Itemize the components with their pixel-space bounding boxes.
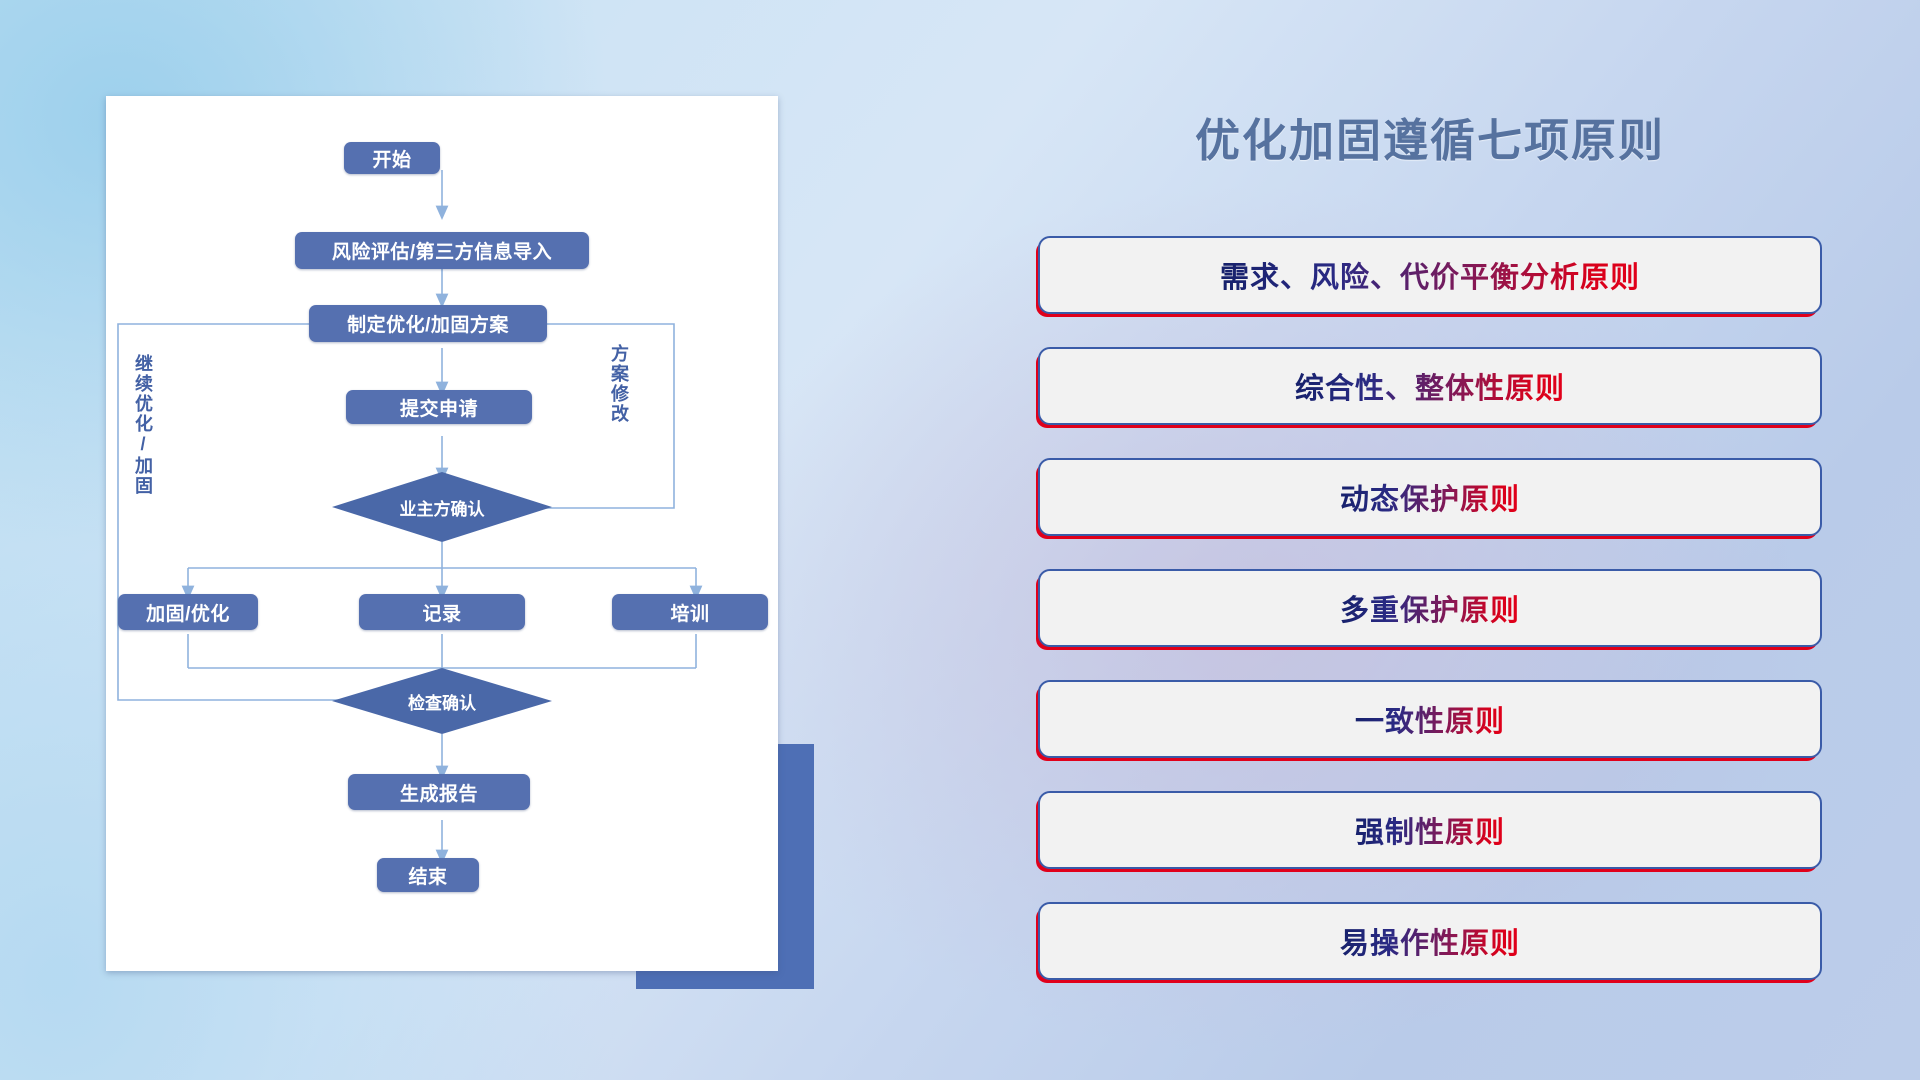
flow-node-start[interactable]: 开始 xyxy=(344,142,440,174)
principle-card-1[interactable]: 需求、风险、代价平衡分析原则 xyxy=(1038,236,1822,314)
flow-node-label: 开始 xyxy=(372,145,411,172)
flow-node-risk-assessment[interactable]: 风险评估/第三方信息导入 xyxy=(295,232,589,269)
flow-node-label: 制定优化/加固方案 xyxy=(347,310,509,337)
principle-card-7[interactable]: 易操作性原则 xyxy=(1038,902,1822,980)
principle-card-3[interactable]: 动态保护原则 xyxy=(1038,458,1822,536)
flow-node-label: 生成报告 xyxy=(400,779,478,806)
principle-label: 一致性原则 xyxy=(1355,698,1505,740)
flow-node-label: 培训 xyxy=(670,599,709,626)
principle-label: 动态保护原则 xyxy=(1340,476,1520,518)
flow-node-label: 结束 xyxy=(408,862,447,889)
flow-node-label: 检查确认 xyxy=(408,689,476,714)
principles-panel: 优化加固遵循七项原则 需求、风险、代价平衡分析原则 综合性、整体性原则 动态保护… xyxy=(1020,90,1840,1050)
flow-node-generate-report[interactable]: 生成报告 xyxy=(348,774,530,810)
principle-label: 易操作性原则 xyxy=(1340,920,1520,962)
flow-node-label: 风险评估/第三方信息导入 xyxy=(332,237,552,264)
flow-node-label: 加固/优化 xyxy=(146,599,230,626)
flow-node-training[interactable]: 培训 xyxy=(612,594,768,630)
page-title: 优化加固遵循七项原则 xyxy=(1020,104,1840,169)
principle-label: 强制性原则 xyxy=(1355,809,1505,851)
principle-card-6[interactable]: 强制性原则 xyxy=(1038,791,1822,869)
flow-node-plan[interactable]: 制定优化/加固方案 xyxy=(309,305,547,342)
principle-label: 综合性、整体性原则 xyxy=(1295,365,1565,407)
flow-label-continue-optimize: 继续优化/加固 xyxy=(130,354,156,496)
flow-node-end[interactable]: 结束 xyxy=(377,858,479,892)
flow-node-label: 记录 xyxy=(422,599,461,626)
principle-card-5[interactable]: 一致性原则 xyxy=(1038,680,1822,758)
principle-label: 需求、风险、代价平衡分析原则 xyxy=(1220,254,1640,296)
flow-node-record[interactable]: 记录 xyxy=(359,594,525,630)
principle-label: 多重保护原则 xyxy=(1340,587,1520,629)
flow-node-reinforce[interactable]: 加固/优化 xyxy=(118,594,258,630)
principle-card-2[interactable]: 综合性、整体性原则 xyxy=(1038,347,1822,425)
flow-node-label: 提交申请 xyxy=(400,394,478,421)
flow-node-submit-application[interactable]: 提交申请 xyxy=(346,390,532,424)
principle-card-4[interactable]: 多重保护原则 xyxy=(1038,569,1822,647)
flow-label-plan-revision: 方案修改 xyxy=(606,344,632,424)
flowchart-panel: 开始 风险评估/第三方信息导入 制定优化/加固方案 提交申请 业主方确认 加固/… xyxy=(106,96,778,971)
flow-node-label: 业主方确认 xyxy=(400,495,485,520)
